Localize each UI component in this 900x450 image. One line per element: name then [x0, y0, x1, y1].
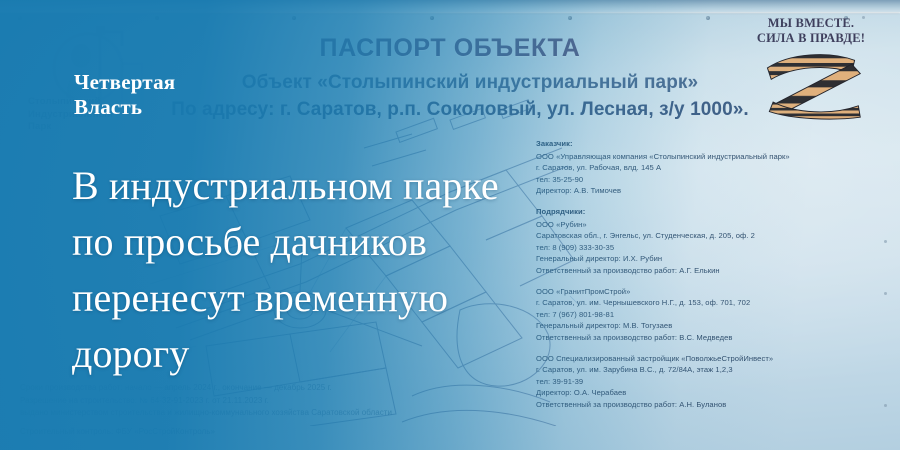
- headline-line-2: по просьбе дачников: [72, 214, 632, 270]
- article-card: Столыпинский Индустриальный Парк: [0, 0, 900, 450]
- site-logo-line2: Власть: [74, 95, 175, 120]
- article-headline[interactable]: В индустриальном парке по просьбе дачник…: [72, 158, 632, 382]
- site-logo-line1: Четвертая: [74, 70, 175, 95]
- site-logo[interactable]: Четвертая Власть: [74, 70, 175, 120]
- headline-line-4: дорогу: [72, 326, 632, 382]
- headline-line-1: В индустриальном парке: [72, 158, 632, 214]
- headline-line-3: перенесут временную: [72, 270, 632, 326]
